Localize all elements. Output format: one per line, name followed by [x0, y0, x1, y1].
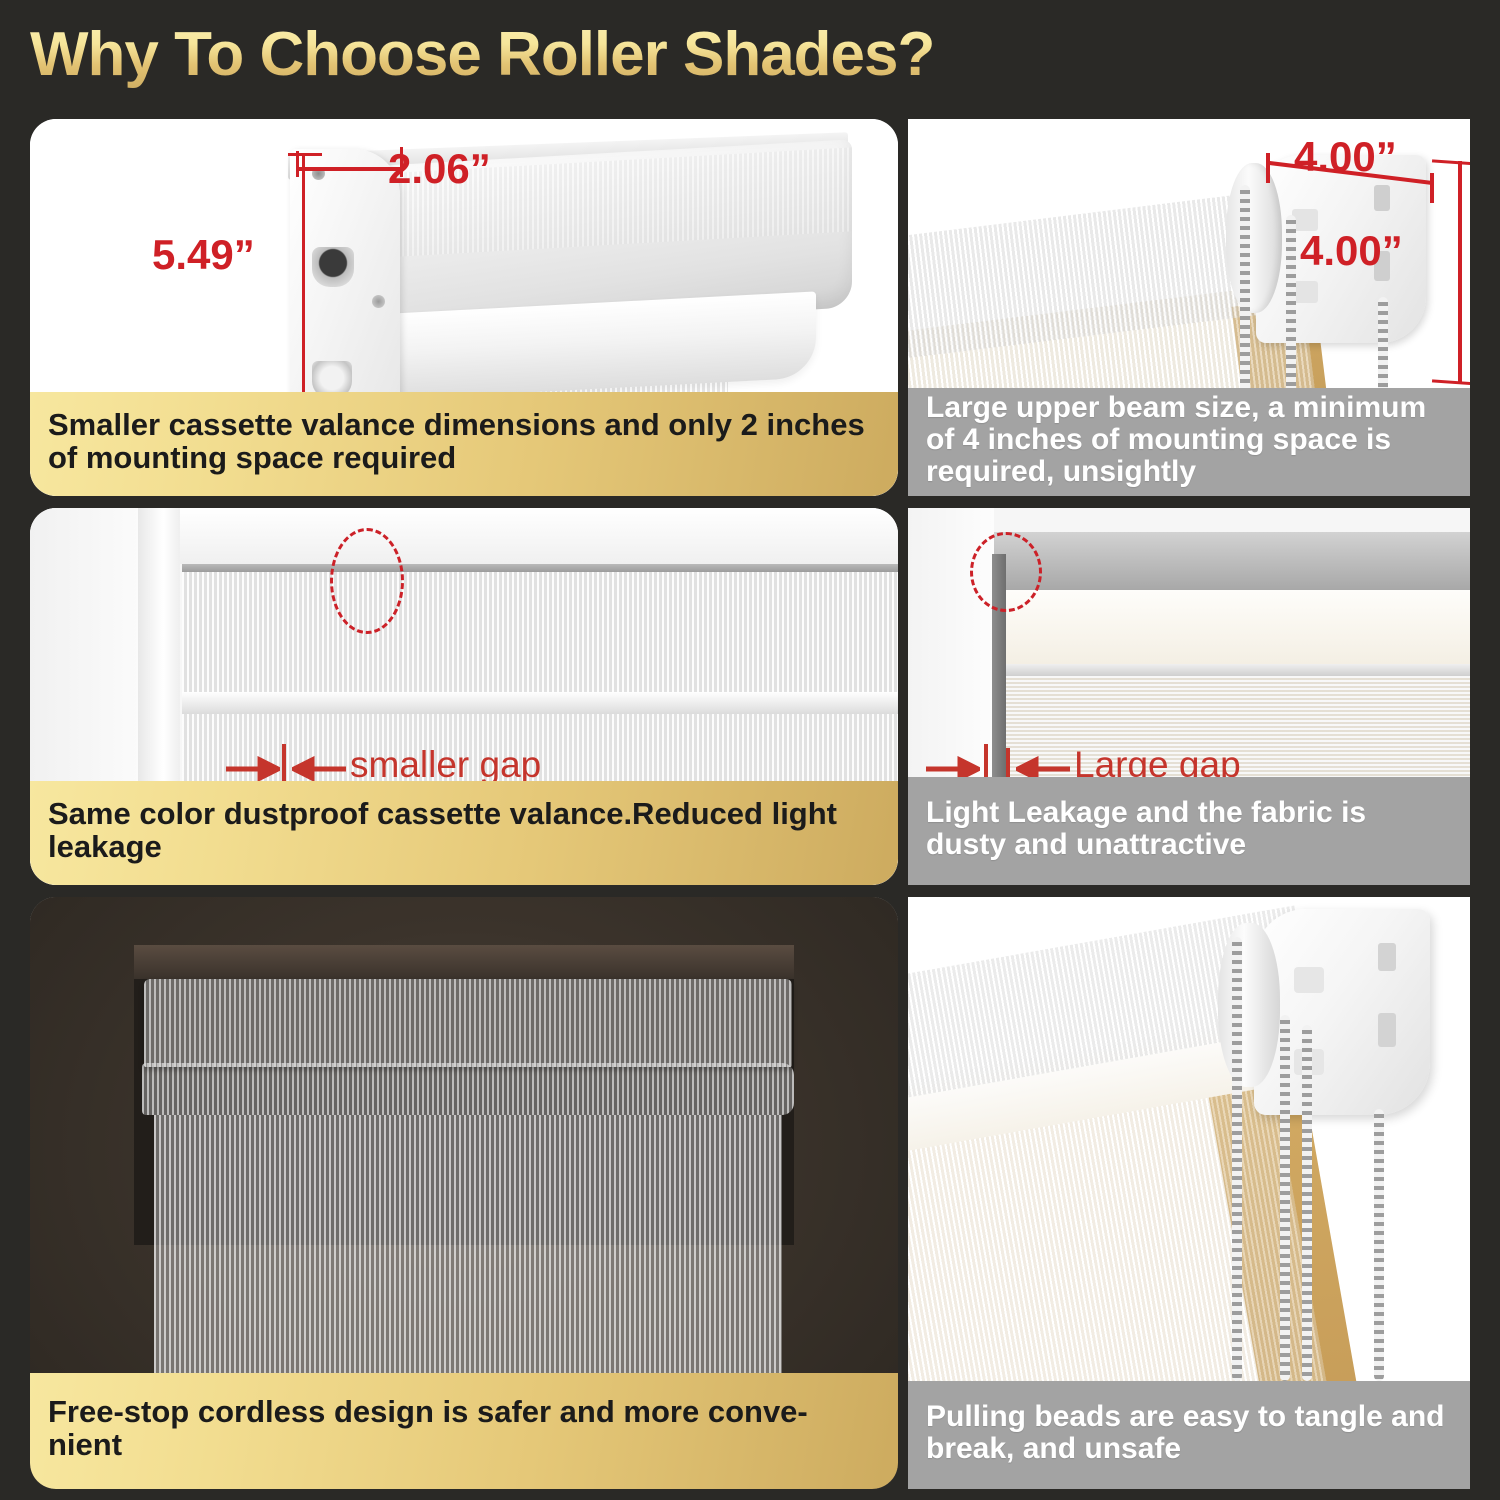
gap-arrow-right-icon — [292, 756, 346, 782]
beam-width-tick-left — [1266, 153, 1270, 183]
beam-height-dimension-line — [1458, 161, 1462, 383]
height-dimension-tick-top — [288, 153, 322, 156]
width-dimension-label: 2.06” — [388, 145, 491, 193]
panel-caption-pro-cordless-design: Free-stop cordless design is safer and m… — [30, 1373, 898, 1489]
panel-con-pulling-beads[interactable]: Pulling beads are easy to tangle and bre… — [908, 897, 1470, 1489]
beam-width-dimension-label: 4.00” — [1294, 133, 1397, 181]
panel-caption-con-pulling-beads: Pulling beads are easy to tangle and bre… — [908, 1381, 1470, 1489]
panel-caption-con-light-leakage: Light Leakage and the fabric is dusty an… — [908, 777, 1470, 885]
panel-caption-con-large-upper-beam: Large upper beam size, a minimum of 4 in… — [908, 388, 1470, 496]
panel-pro-cassette-dimensions[interactable]: 2.06” 5.49” Smaller cassette valance dim… — [30, 119, 898, 496]
bead-chain-1 — [1232, 937, 1242, 1381]
panel-con-large-upper-beam[interactable]: 4.00” 4.00” Large upper beam size, a min… — [908, 119, 1470, 496]
comparison-grid: 2.06” 5.49” Smaller cassette valance dim… — [0, 108, 1500, 1500]
leak-highlight-ellipse — [970, 532, 1042, 612]
gap-highlight-ellipse — [330, 528, 404, 634]
panel-pro-cordless-design[interactable]: Free-stop cordless design is safer and m… — [30, 897, 898, 1489]
gap-marker-line — [282, 744, 286, 786]
page-title: Why To Choose Roller Shades? — [30, 19, 934, 90]
bead-chain-4 — [1374, 1109, 1384, 1381]
panel-caption-pro-smaller-gap: Same color dustproof cassette valance.Re… — [30, 781, 898, 885]
panel-con-light-leakage[interactable]: Large gap Light Leakage and the fabric i… — [908, 508, 1470, 885]
panel-pro-smaller-gap[interactable]: smaller gap Same color dustproof cassett… — [30, 508, 898, 885]
beam-height-dimension-label: 4.00” — [1300, 227, 1403, 275]
bead-chain-2 — [1280, 1015, 1290, 1381]
bead-chain-3 — [1302, 1025, 1312, 1381]
gap-arrow-left-icon — [226, 756, 280, 782]
height-dimension-label: 5.49” — [152, 231, 255, 279]
beam-width-tick-right — [1430, 173, 1434, 203]
page-header: Why To Choose Roller Shades? — [0, 0, 1500, 108]
panel-caption-pro-cassette-dimensions: Smaller cassette valance dimensions and … — [30, 392, 898, 496]
smaller-gap-label: smaller gap — [350, 744, 541, 786]
